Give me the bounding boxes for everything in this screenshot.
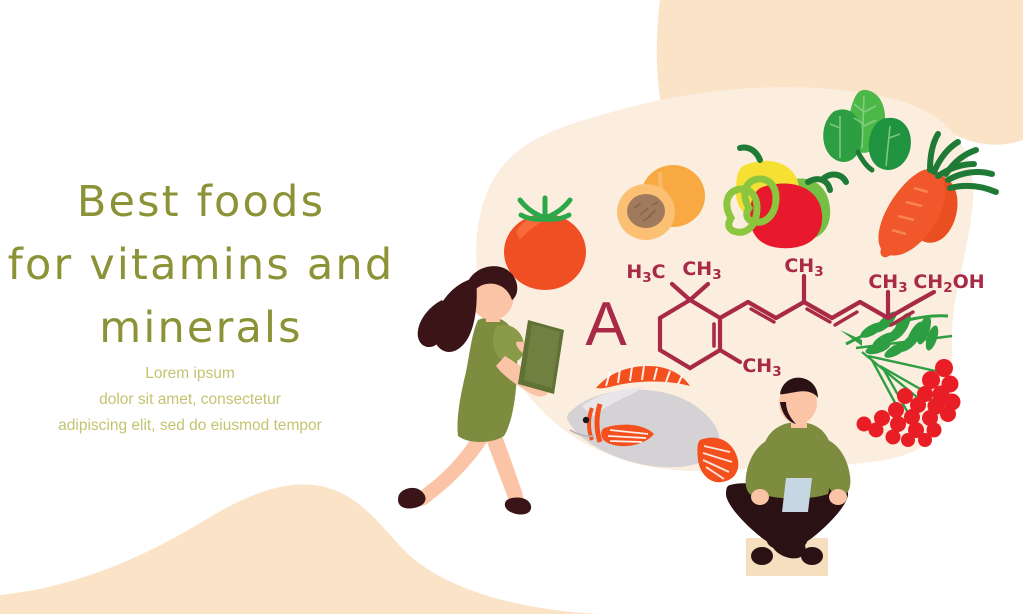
subtitle-line-3: adipiscing elit, sed do eiusmod tempor bbox=[58, 417, 322, 434]
illustration-canvas: Best foods for vitamins and minerals Lor… bbox=[0, 0, 1023, 614]
subtitle-line-1: Lorem ipsum bbox=[145, 365, 235, 382]
man-tablet bbox=[782, 478, 812, 512]
fish-eye bbox=[583, 417, 589, 423]
pepper-red-body bbox=[750, 184, 822, 249]
man-hand-left bbox=[751, 489, 769, 505]
man-foot-left bbox=[751, 547, 773, 565]
apricot-pit bbox=[627, 194, 665, 228]
woman-front-shoe bbox=[505, 497, 531, 514]
man-foot-right bbox=[801, 547, 823, 565]
title-line-1: Best foods bbox=[77, 177, 325, 227]
subtitle-block: Lorem ipsum dolor sit amet, consectetur … bbox=[58, 365, 322, 434]
subtitle-line-2: dolor sit amet, consectetur bbox=[99, 391, 281, 408]
title-line-3: minerals bbox=[99, 303, 303, 353]
woman-front-leg bbox=[484, 430, 525, 509]
vitamin-a-poster-artwork: Best foods for vitamins and minerals Lor… bbox=[0, 0, 1023, 614]
page-title: Best foods for vitamins and minerals bbox=[8, 177, 395, 353]
tomato-body bbox=[504, 214, 586, 290]
vitamin-a-letter: A bbox=[585, 290, 627, 359]
title-line-2: for vitamins and bbox=[8, 240, 395, 290]
man-hand-right bbox=[829, 489, 847, 505]
